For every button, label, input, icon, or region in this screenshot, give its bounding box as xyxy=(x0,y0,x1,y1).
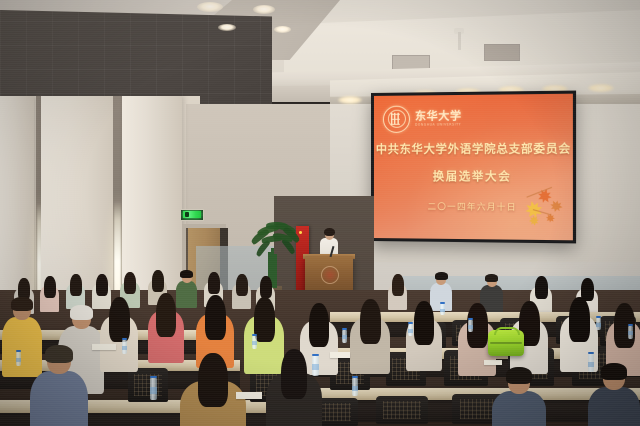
desk-paper xyxy=(236,392,262,399)
audience-chair[interactable] xyxy=(376,396,428,424)
slide-title-line2: 换届选举大会 xyxy=(374,168,573,185)
speaker-hair xyxy=(324,228,335,236)
audience-member-hair xyxy=(109,297,130,342)
exit-running-figure-icon xyxy=(185,212,189,217)
audience-member-torso xyxy=(30,371,88,426)
audience-member-hair xyxy=(260,276,272,298)
audience-member-torso xyxy=(2,317,42,377)
audience-member-hair xyxy=(281,349,307,399)
audience-member-hair xyxy=(601,363,627,380)
slide-title-line1: 中共东华大学外语学院总支部委员会 xyxy=(374,143,573,157)
audience-member-hair xyxy=(569,297,590,342)
bottle-cap xyxy=(16,350,20,353)
audience-member-torso xyxy=(492,391,546,426)
university-logo: 东华大学 DONGHUA UNIVERSITY xyxy=(383,104,472,133)
audience-member-hair xyxy=(70,274,82,296)
audience-member-torso xyxy=(588,387,640,426)
maple-leaf-decoration xyxy=(374,94,573,96)
audience-member-hair xyxy=(205,295,226,340)
logo-english-name: DONGHUA UNIVERSITY xyxy=(415,123,462,127)
desk-paper xyxy=(330,352,350,358)
bottle-label xyxy=(150,387,157,394)
projection-screen: 东华大学 DONGHUA UNIVERSITY 中共东华大学外语学院总支部委员会… xyxy=(374,94,573,241)
desk-paper xyxy=(484,360,502,365)
bottle-cap xyxy=(352,376,357,379)
bottle-label xyxy=(252,341,257,345)
bottle-label xyxy=(16,358,21,362)
bottle-label xyxy=(440,309,445,312)
exit-sign xyxy=(180,209,204,221)
lecture-hall-photo: 东华大学 DONGHUA UNIVERSITY 中共东华大学外语学院总支部委员会… xyxy=(0,0,640,426)
ceiling-vent xyxy=(484,44,520,61)
audience-member-hair xyxy=(485,274,498,282)
audience-member-hair xyxy=(198,353,228,407)
bottle-cap xyxy=(588,352,593,355)
audience-member-hair xyxy=(360,299,381,344)
bottle-label xyxy=(596,323,601,327)
ceiling-downlight xyxy=(274,26,291,33)
donghua-seal-icon xyxy=(383,105,410,132)
ceiling-downlight xyxy=(253,5,275,14)
backpack-zipper xyxy=(490,342,522,344)
audience-member-hair xyxy=(236,274,248,296)
ceiling-downlight xyxy=(218,24,236,31)
bottle-cap xyxy=(312,354,318,357)
audience-member-hair xyxy=(152,270,164,292)
flag-star-icon xyxy=(299,231,302,234)
bottle-cap xyxy=(150,376,156,379)
chair-perforation xyxy=(383,401,420,419)
ceiling-downlight xyxy=(197,2,223,12)
bottle-label xyxy=(352,386,358,391)
bottle-label xyxy=(408,329,413,333)
bottle-cap xyxy=(122,338,126,341)
bottle-label xyxy=(588,362,594,367)
audience-member-hair xyxy=(309,303,329,347)
audience-member-hair xyxy=(392,274,404,296)
audience-member-hair xyxy=(124,272,136,294)
bottle-cap xyxy=(342,328,346,331)
bottle-cap xyxy=(252,334,256,337)
audience-member-hair xyxy=(535,276,548,299)
audience-member-hair xyxy=(45,345,73,363)
bottle-cap xyxy=(628,324,632,327)
audience-member-hair xyxy=(96,274,108,296)
soffit-downlight xyxy=(588,84,614,92)
podium-emblem-icon xyxy=(321,266,339,284)
soffit-downlight xyxy=(338,96,362,104)
projection-screen-frame: 东华大学 DONGHUA UNIVERSITY 中共东华大学外语学院总支部委员会… xyxy=(371,91,576,244)
sprinkler-pipe xyxy=(458,32,461,50)
bottle-cap xyxy=(440,302,444,305)
palm-stem xyxy=(274,254,277,288)
audience-member-hair xyxy=(414,301,434,345)
audience-member-torso xyxy=(176,281,197,308)
audience-member-hair xyxy=(180,270,193,278)
bottle-label xyxy=(342,335,347,339)
audience-member-hair xyxy=(44,276,56,298)
audience-member-hair xyxy=(70,305,93,320)
maple-leaf-icon xyxy=(527,213,542,227)
chair-perforation xyxy=(134,374,163,396)
bottle-label xyxy=(468,325,473,329)
bottle-label xyxy=(628,331,633,335)
backpack-strap xyxy=(494,327,520,335)
bottle-label xyxy=(122,346,127,350)
audience-member-hair xyxy=(208,272,220,294)
bottle-cap xyxy=(408,322,412,325)
logo-chinese-name: 东华大学 xyxy=(415,110,462,122)
audience-chair[interactable] xyxy=(128,368,168,402)
audience-member-hair xyxy=(11,297,33,311)
audience-member-hair xyxy=(435,272,448,280)
bottle-cap xyxy=(596,316,600,319)
bottle-label xyxy=(312,364,319,370)
audience-member-hair xyxy=(506,367,532,384)
bottle-cap xyxy=(468,318,472,321)
desk-paper xyxy=(92,344,116,350)
audience-member-hair xyxy=(156,293,176,337)
